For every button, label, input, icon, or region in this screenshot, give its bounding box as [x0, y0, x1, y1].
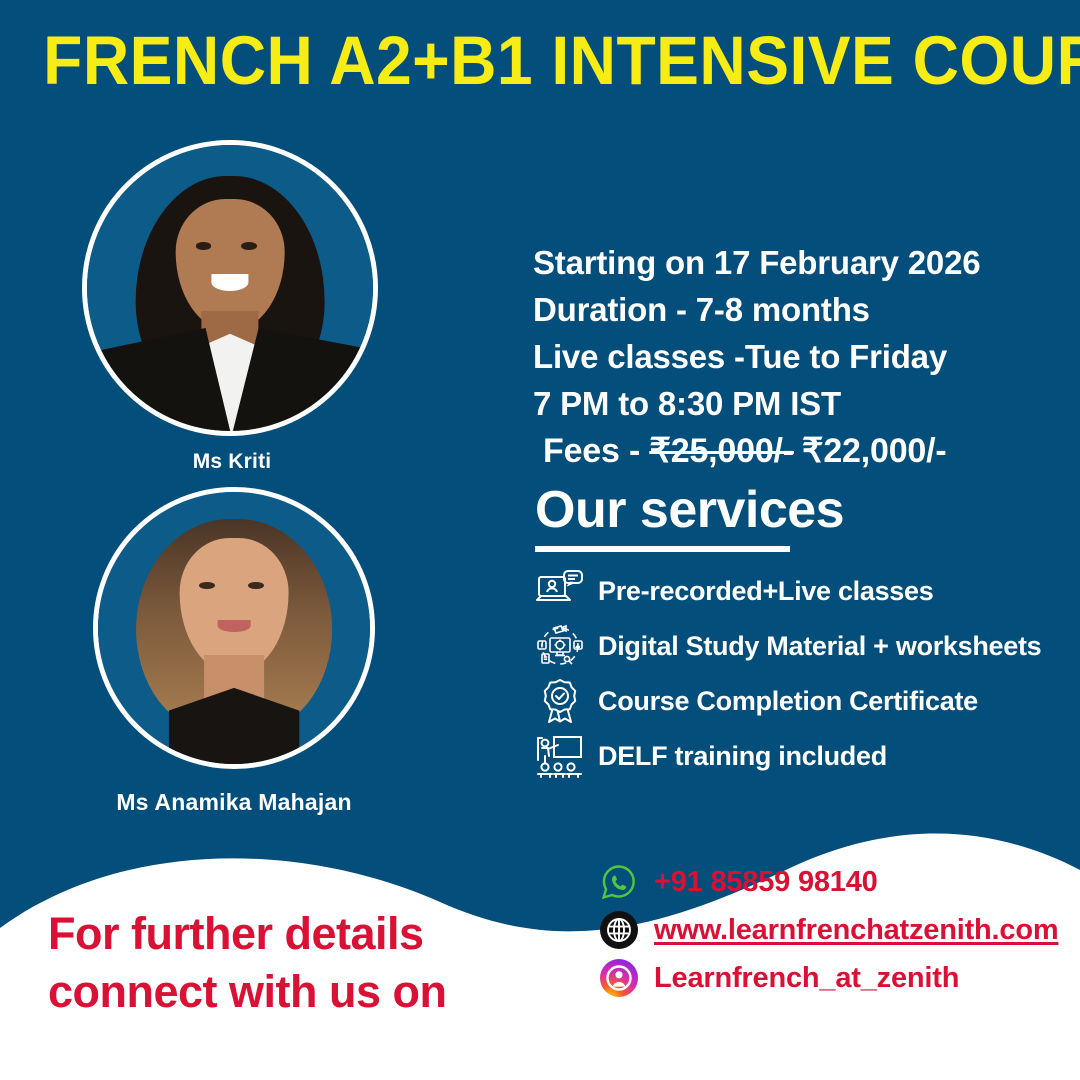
- whatsapp-number[interactable]: +91 85859 98140: [654, 866, 878, 899]
- contact-website[interactable]: www.learnfrenchatzenith.com: [598, 906, 1078, 954]
- contact-instagram[interactable]: Learnfrench_at_zenith: [598, 954, 1078, 1002]
- detail-starting-date: Starting on 17 February 2026: [533, 240, 1078, 287]
- services-section: Our services Pre-recorded+Live classes: [535, 483, 1080, 784]
- instructor-card-2: Ms Anamika Mahajan: [88, 487, 380, 816]
- service-item: Digital Study Material + worksheets: [535, 619, 1080, 674]
- service-item: Pre-recorded+Live classes: [535, 564, 1080, 619]
- fees-label: Fees -: [543, 432, 649, 470]
- detail-duration: Duration - 7-8 months: [533, 287, 1078, 334]
- title-bar: FRENCH A2+B1 INTENSIVE COURSE: [0, 26, 1080, 95]
- service-label: Course Completion Certificate: [598, 686, 978, 717]
- detail-timing: 7 PM to 8:30 PM IST: [533, 381, 1078, 428]
- instagram-handle[interactable]: Learnfrench_at_zenith: [654, 962, 959, 995]
- contact-whatsapp[interactable]: +91 85859 98140: [598, 858, 1078, 906]
- detail-fees: Fees - ₹25,000/-₹22,000/-: [533, 427, 1078, 475]
- avatar: [93, 487, 375, 769]
- services-title: Our services: [535, 483, 1080, 538]
- service-item: Course Completion Certificate: [535, 674, 1080, 729]
- globe-icon[interactable]: [598, 909, 640, 951]
- service-label: Digital Study Material + worksheets: [598, 631, 1041, 662]
- whatsapp-icon[interactable]: [598, 861, 640, 903]
- cta-text: For further details connect with us on: [48, 905, 518, 1020]
- service-label: DELF training included: [598, 741, 887, 772]
- services-divider: [535, 546, 790, 552]
- service-label: Pre-recorded+Live classes: [598, 576, 933, 607]
- page-title: FRENCH A2+B1 INTENSIVE COURSE: [43, 26, 1080, 95]
- certificate-badge-icon: [535, 677, 585, 725]
- instagram-icon[interactable]: [598, 957, 640, 999]
- fees-old-price: ₹25,000/-: [649, 432, 794, 470]
- service-item: DELF training included: [535, 729, 1080, 784]
- instructor-photo-kriti: [87, 145, 373, 431]
- instructor-name-1: Ms Kriti: [82, 450, 382, 474]
- detail-live-classes: Live classes -Tue to Friday: [533, 334, 1078, 381]
- instructor-photo-anamika: [98, 492, 370, 764]
- cta-line-1: For further details: [48, 905, 518, 963]
- classroom-training-icon: [535, 732, 585, 780]
- fees-new-price: ₹22,000/-: [802, 432, 947, 470]
- avatar: [82, 140, 378, 436]
- instructor-card-1: Ms Kriti: [82, 140, 382, 474]
- online-class-icon: [535, 567, 585, 615]
- course-details: Starting on 17 February 2026 Duration - …: [533, 240, 1078, 476]
- contact-list: +91 85859 98140 www.learnfrenchatzenith.…: [598, 858, 1078, 1002]
- cta-line-2: connect with us on: [48, 963, 518, 1021]
- website-link[interactable]: www.learnfrenchatzenith.com: [654, 914, 1058, 947]
- digital-material-icon: [535, 622, 585, 670]
- poster-canvas: FRENCH A2+B1 INTENSIVE COURSE Ms Kriti: [0, 0, 1080, 1080]
